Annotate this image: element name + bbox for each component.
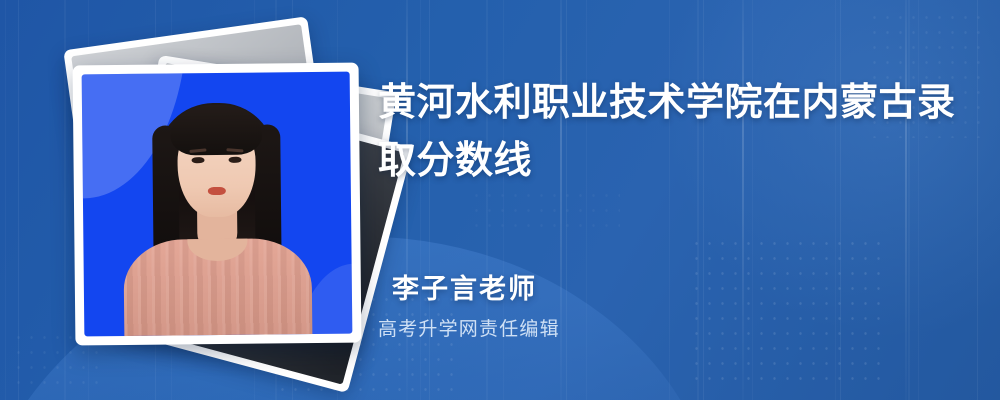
portrait-eye-right — [229, 157, 242, 163]
byline: 李子言老师 高考升学网责任编辑 — [392, 272, 560, 342]
portrait-mouth — [208, 187, 226, 195]
photo-card-stack — [48, 28, 368, 368]
author-role: 高考升学网责任编辑 — [378, 318, 560, 342]
portrait-photo — [82, 72, 353, 337]
article-cover-banner: 黄河水利职业技术学院在内蒙古录取分数线 李子言老师 高考升学网责任编辑 — [0, 0, 1000, 400]
portrait-photo-card — [73, 63, 362, 346]
portrait-eye-left — [192, 157, 205, 163]
cover-text-block: 黄河水利职业技术学院在内蒙古录取分数线 李子言老师 高考升学网责任编辑 — [378, 0, 968, 400]
author-name: 李子言老师 — [392, 272, 560, 306]
portrait-hair-front — [170, 105, 263, 156]
page-title: 黄河水利职业技术学院在内蒙古录取分数线 — [378, 74, 958, 190]
portrait-figure — [82, 72, 353, 337]
